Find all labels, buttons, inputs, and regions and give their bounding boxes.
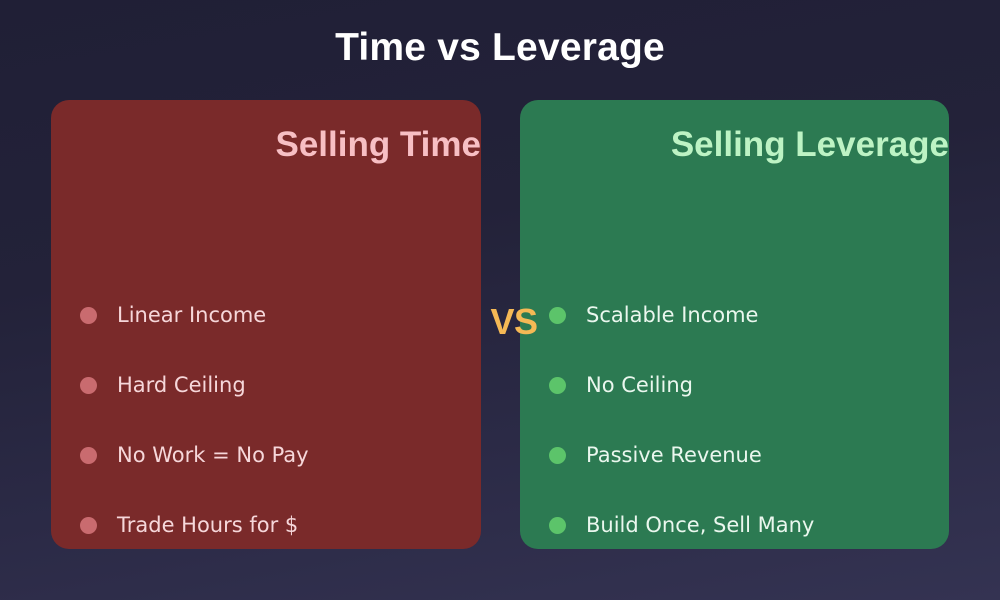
- bullet-icon: [549, 307, 566, 324]
- bullet-icon: [549, 517, 566, 534]
- list-item-label: No Work = No Pay: [117, 443, 309, 467]
- list-item-label: Linear Income: [117, 303, 266, 327]
- item-list-selling-time: Linear Income Hard Ceiling No Work = No …: [80, 280, 309, 560]
- bullet-icon: [80, 377, 97, 394]
- list-item: Passive Revenue: [549, 420, 814, 490]
- list-item: Trade Hours for $: [80, 490, 309, 560]
- list-item-label: Build Once, Sell Many: [586, 513, 814, 537]
- bullet-icon: [549, 447, 566, 464]
- item-list-selling-leverage: Scalable Income No Ceiling Passive Reven…: [549, 280, 814, 560]
- page-title: Time vs Leverage: [0, 28, 1000, 67]
- comparison-infographic: Time vs Leverage Selling Time Linear Inc…: [0, 0, 1000, 600]
- list-item-label: No Ceiling: [586, 373, 693, 397]
- list-item-label: Trade Hours for $: [117, 513, 298, 537]
- bullet-icon: [549, 377, 566, 394]
- panel-heading-selling-leverage: Selling Leverage: [548, 122, 949, 168]
- list-item-label: Passive Revenue: [586, 443, 762, 467]
- panel-heading-selling-time: Selling Time: [79, 122, 481, 168]
- list-item: Build Once, Sell Many: [549, 490, 814, 560]
- list-item-label: Hard Ceiling: [117, 373, 246, 397]
- panel-selling-time: Selling Time Linear Income Hard Ceiling …: [51, 100, 481, 549]
- list-item: Hard Ceiling: [80, 350, 309, 420]
- list-item: No Work = No Pay: [80, 420, 309, 490]
- list-item: Linear Income: [80, 280, 309, 350]
- bullet-icon: [80, 447, 97, 464]
- list-item: Scalable Income: [549, 280, 814, 350]
- panel-selling-leverage: Selling Leverage Scalable Income No Ceil…: [520, 100, 949, 549]
- list-item: No Ceiling: [549, 350, 814, 420]
- vs-divider-label: VS: [480, 300, 548, 344]
- bullet-icon: [80, 307, 97, 324]
- list-item-label: Scalable Income: [586, 303, 758, 327]
- bullet-icon: [80, 517, 97, 534]
